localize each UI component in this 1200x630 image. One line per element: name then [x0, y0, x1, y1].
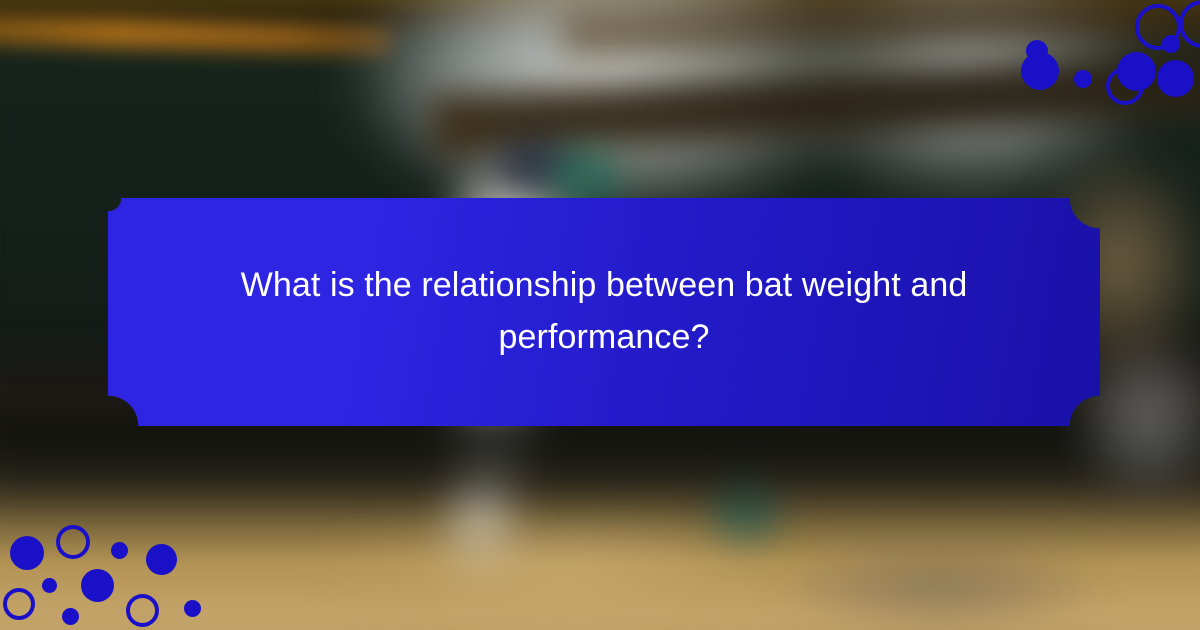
question-text: What is the relationship between bat wei… [209, 260, 999, 363]
social-card-canvas: What is the relationship between bat wei… [0, 0, 1200, 630]
question-card: What is the relationship between bat wei… [108, 198, 1100, 426]
